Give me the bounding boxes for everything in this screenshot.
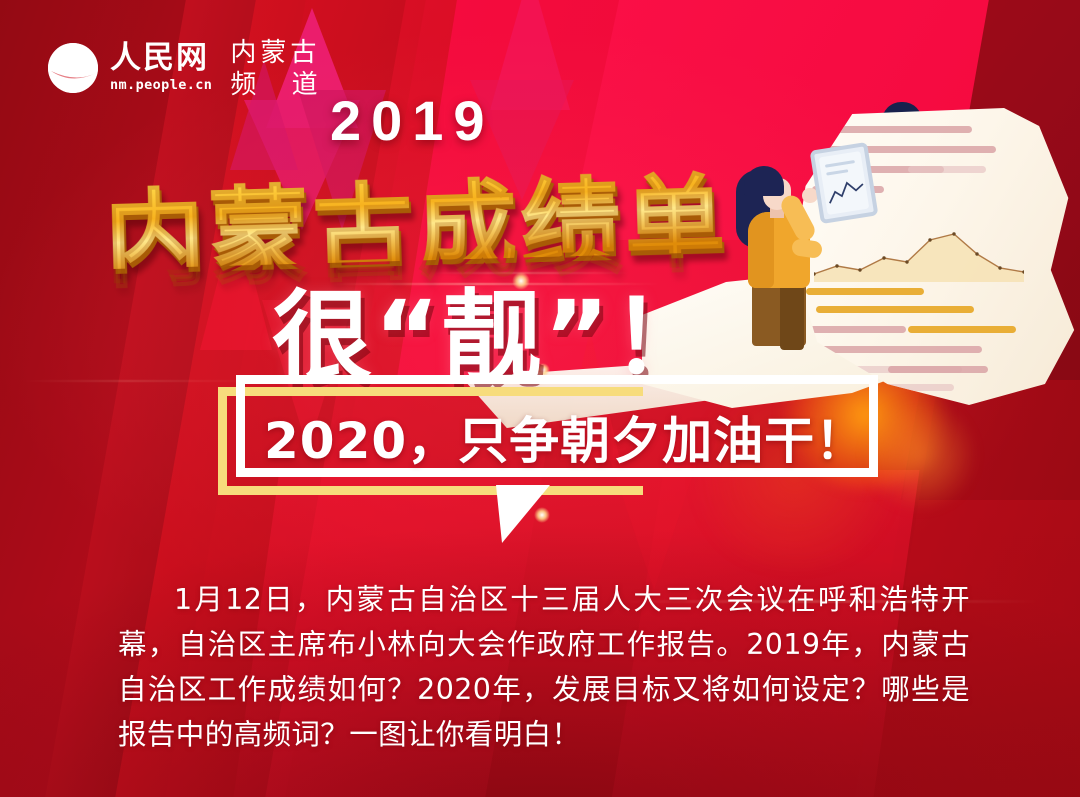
site-logo[interactable]: 人民网 nm.people.cn 内蒙古 频 道 bbox=[46, 38, 332, 98]
poster-canvas: 人民网 nm.people.cn 内蒙古 频 道 2019 内蒙古成绩单 很“靓… bbox=[0, 0, 1080, 797]
logo-name-cn: 人民网 bbox=[110, 43, 212, 74]
callout-text: 2020，只争朝夕加油干！ bbox=[264, 401, 858, 473]
logo-channel-line1: 内蒙古 bbox=[230, 38, 331, 66]
logo-url: nm.people.cn bbox=[110, 79, 212, 93]
body-paragraph: 1月12日，内蒙古自治区十三届人大三次会议在呼和浩特开幕，自治区主席布小林向大会… bbox=[118, 577, 970, 757]
illustration-report-scene bbox=[700, 86, 1080, 416]
logo-channel-block: 内蒙古 频 道 bbox=[230, 38, 331, 98]
tablet-device-icon bbox=[810, 142, 879, 224]
logo-text-block: 人民网 nm.people.cn bbox=[110, 43, 212, 93]
people-cn-swirl-logo-icon bbox=[46, 41, 100, 95]
callout-bubble-tail bbox=[496, 485, 550, 543]
headline-gold-title: 内蒙古成绩单 bbox=[103, 139, 766, 269]
callout-gold-cap-bottom bbox=[629, 486, 643, 495]
headline-year: 2019 bbox=[330, 88, 495, 153]
callout-speech-bubble: 2020，只争朝夕加油干！ bbox=[218, 375, 878, 495]
logo-channel-line2: 频 道 bbox=[230, 70, 331, 98]
